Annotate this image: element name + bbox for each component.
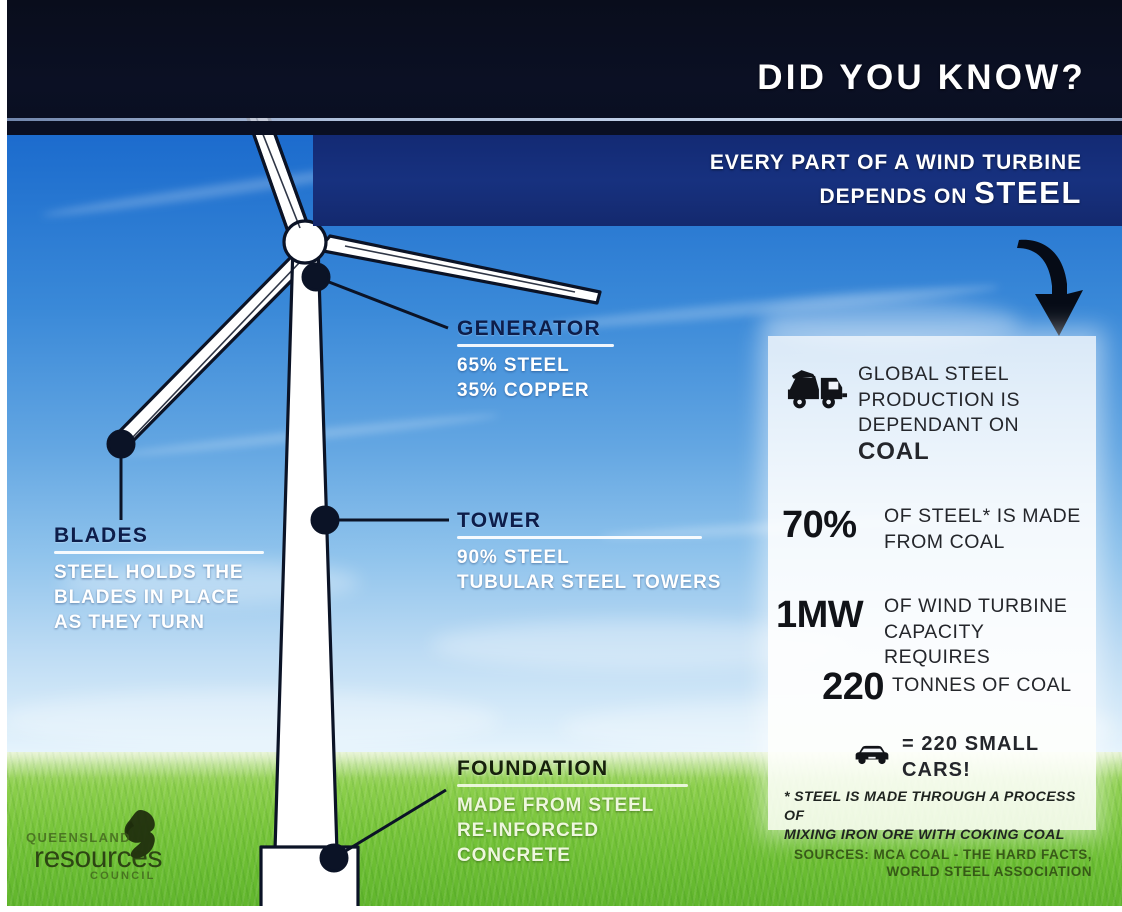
fact-1mw-text: OF WIND TURBINE CAPACITY REQUIRES [884, 594, 1067, 671]
callout-generator-line-1: 65% STEEL [457, 353, 614, 378]
callout-tower-line-2: TUBULAR STEEL TOWERS [457, 570, 721, 595]
fact-global-line-3: DEPENDANT ON [858, 413, 1020, 439]
callout-foundation-line-3: CONCRETE [457, 843, 688, 868]
fact-70-percent: 70% OF STEEL* IS MADE FROM COAL [782, 504, 1081, 555]
page-title: DID YOU KNOW? [757, 58, 1086, 98]
fact-global-line-2: PRODUCTION IS [858, 388, 1020, 414]
curved-down-arrow-icon [1015, 236, 1095, 341]
callout-blades-line-3: AS THEY TURN [54, 610, 264, 635]
callout-foundation-title: FOUNDATION [457, 757, 688, 781]
subheading-text: EVERY PART OF A WIND TURBINE DEPENDS ON … [442, 148, 1082, 212]
fact-global-steel-text: GLOBAL STEEL PRODUCTION IS DEPENDANT ON … [858, 362, 1020, 464]
callout-generator: GENERATOR 65% STEEL 35% COPPER [457, 317, 614, 403]
fact-1mw-line-2: CAPACITY [884, 620, 1067, 646]
subheading-line-1: EVERY PART OF A WIND TURBINE [442, 148, 1082, 178]
fact-1mw: 1MW OF WIND TURBINE CAPACITY REQUIRES [776, 594, 1067, 671]
frame-edge-left [0, 0, 7, 912]
fact-global-line-1: GLOBAL STEEL [858, 362, 1020, 388]
dump-truck-icon [786, 362, 858, 414]
fact-global-line-4-coal: COAL [858, 439, 1020, 465]
footnote-line-2: MIXING IRON ORE WITH COKING COAL [784, 826, 1084, 845]
subheading-line-2-prefix: DEPENDS ON [820, 185, 975, 208]
fact-cars-equivalent: = 220 SMALL CARS! [852, 732, 1096, 783]
footnote-line-1: * STEEL IS MADE THROUGH A PROCESS OF [784, 788, 1084, 826]
fact-1mw-value: 1MW [776, 594, 884, 637]
sources-line-1: SOURCES: MCA COAL - THE HARD FACTS, [762, 846, 1092, 863]
steel-footnote: * STEEL IS MADE THROUGH A PROCESS OF MIX… [784, 788, 1084, 845]
callout-blades-line-2: BLADES IN PLACE [54, 585, 264, 610]
sources-note: SOURCES: MCA COAL - THE HARD FACTS, WORL… [762, 846, 1092, 880]
subheading-line-2: DEPENDS ON STEEL [442, 178, 1082, 212]
callout-tower: TOWER 90% STEEL TUBULAR STEEL TOWERS [457, 509, 721, 595]
fact-1mw-line-1: OF WIND TURBINE [884, 594, 1067, 620]
car-icon [852, 745, 892, 770]
queensland-resources-council-logo: QUEENSLAND resources COUNCIL [18, 808, 188, 884]
callout-blades: BLADES STEEL HOLDS THE BLADES IN PLACE A… [54, 524, 264, 635]
sources-line-2: WORLD STEEL ASSOCIATION [762, 863, 1092, 880]
frame-edge-bottom [0, 906, 1122, 912]
logo-council-text: COUNCIL [90, 870, 156, 882]
callout-blades-line-1: STEEL HOLDS THE [54, 560, 264, 585]
callout-tower-rule [457, 536, 702, 539]
callout-generator-line-2: 35% COPPER [457, 378, 614, 403]
fact-70-line-1: OF STEEL* IS MADE [884, 504, 1081, 530]
callout-foundation-line-2: RE-INFORCED [457, 818, 688, 843]
callout-foundation-rule [457, 784, 688, 787]
callout-generator-rule [457, 344, 614, 347]
fact-70-line-2: FROM COAL [884, 530, 1081, 556]
callout-tower-line-1: 90% STEEL [457, 545, 721, 570]
infographic-poster: DID YOU KNOW? EVERY PART OF A WIND TURBI… [0, 0, 1122, 912]
fact-70-text: OF STEEL* IS MADE FROM COAL [884, 504, 1081, 555]
fact-220-text: TONNES OF COAL [892, 666, 1072, 699]
callout-blades-title: BLADES [54, 524, 264, 548]
callout-generator-title: GENERATOR [457, 317, 614, 341]
callout-foundation-line-1: MADE FROM STEEL [457, 793, 688, 818]
fact-220-tonnes: 220 TONNES OF COAL [776, 666, 1072, 709]
subheading-steel-emphasis: STEEL [974, 175, 1082, 210]
callout-foundation: FOUNDATION MADE FROM STEEL RE-INFORCED C… [457, 757, 688, 868]
fact-cars-text: = 220 SMALL CARS! [892, 732, 1096, 783]
fact-220-value: 220 [776, 666, 892, 709]
coal-facts-panel: GLOBAL STEEL PRODUCTION IS DEPENDANT ON … [768, 336, 1096, 830]
fact-global-steel-production: GLOBAL STEEL PRODUCTION IS DEPENDANT ON … [786, 362, 1020, 464]
callout-blades-rule [54, 551, 264, 554]
callout-tower-title: TOWER [457, 509, 721, 533]
fact-70-value: 70% [782, 504, 884, 547]
header-lower-band [0, 121, 1122, 135]
